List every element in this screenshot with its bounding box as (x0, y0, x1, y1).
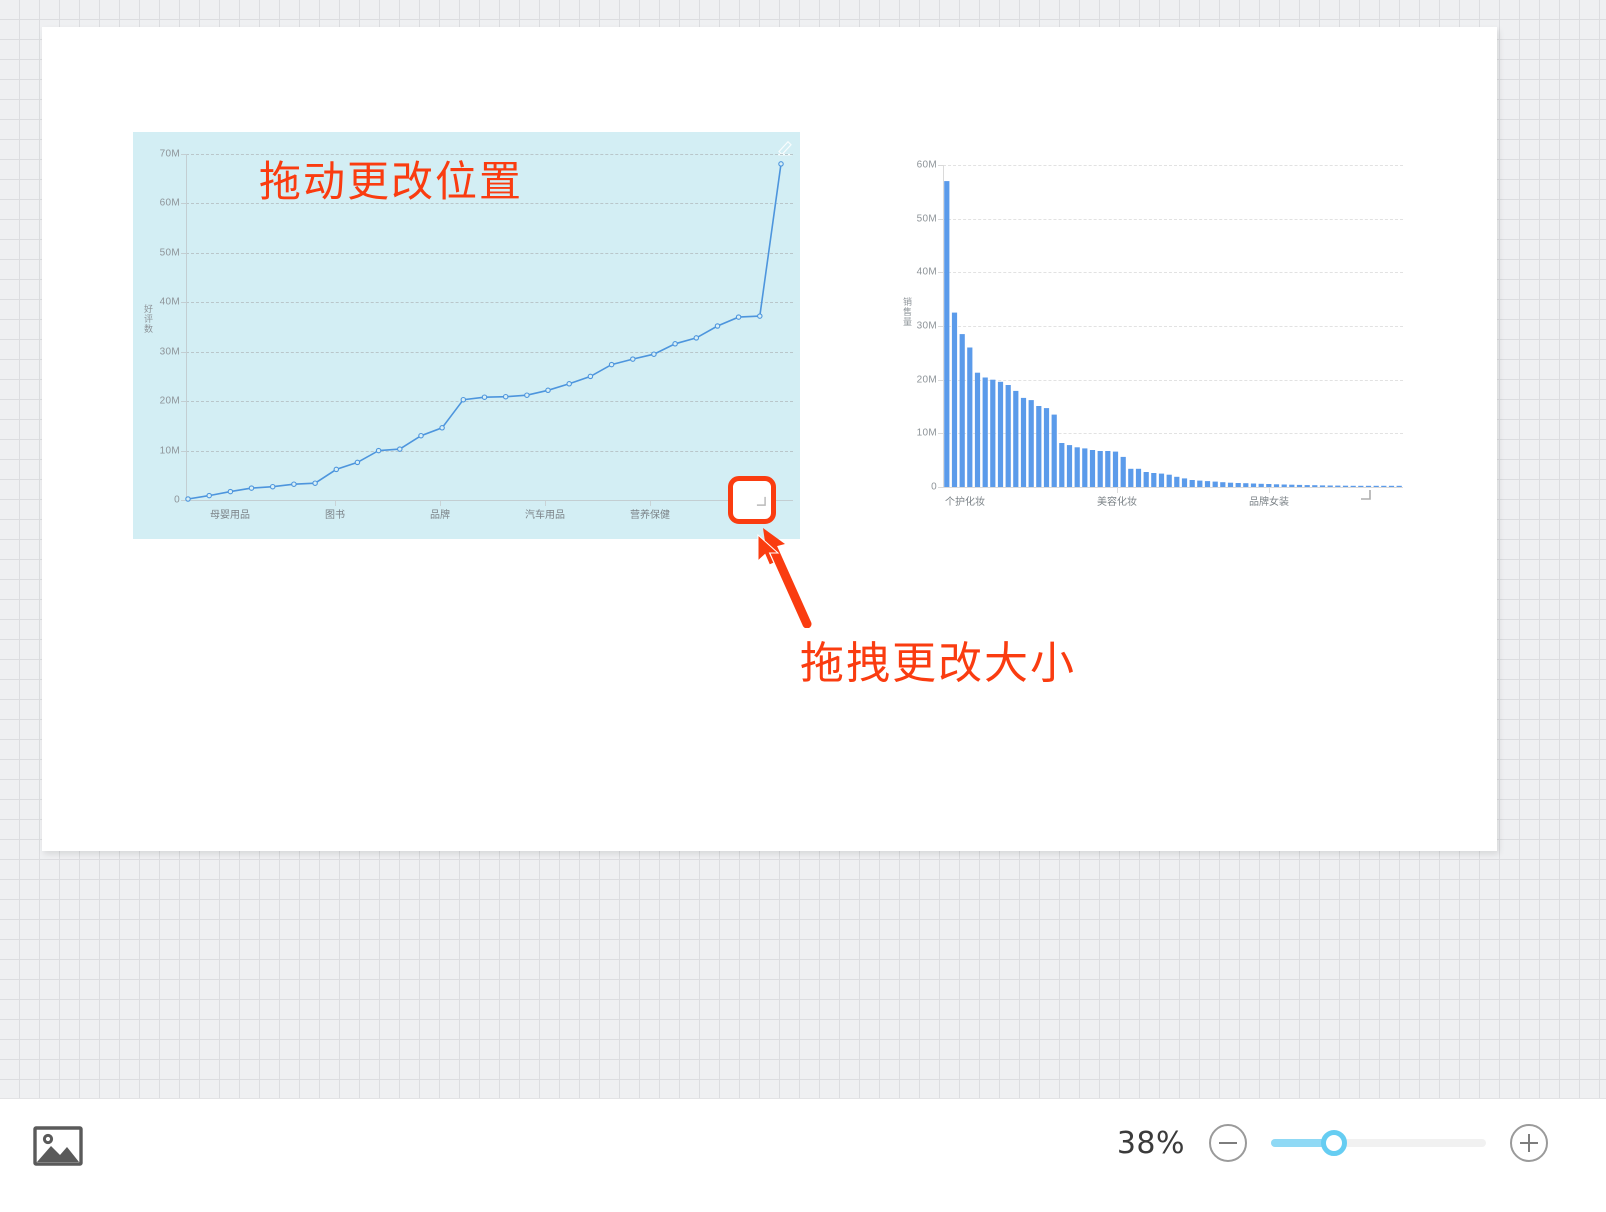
line-series-marker (504, 395, 508, 399)
bar-series-bar (967, 348, 972, 488)
bar-series-bar (1167, 475, 1172, 487)
zoom-in-button[interactable] (1510, 1124, 1548, 1162)
line-x-tickmark (650, 501, 651, 506)
annotation-resize-handle-highlight (728, 476, 776, 524)
bar-chart-widget[interactable]: 销售量 010M20M30M40M50M60M 个护化妆美容化妆品牌女装 (897, 147, 1417, 529)
bar-series-bar (1174, 477, 1179, 487)
bar-series-bar (1013, 391, 1018, 487)
line-x-tick-label: 营养保健 (630, 506, 670, 521)
line-series-marker (673, 342, 677, 346)
zoom-out-button[interactable] (1209, 1124, 1247, 1162)
zoom-slider[interactable] (1271, 1139, 1486, 1147)
image-icon (33, 1125, 83, 1167)
line-series-marker (631, 357, 635, 361)
bar-series-bar (1236, 483, 1241, 487)
bar-series-bar (1305, 485, 1310, 487)
line-series-marker (567, 382, 571, 386)
bar-series-bar (1006, 385, 1011, 487)
bar-series-bar (1381, 486, 1386, 487)
line-x-tick-label: 母婴用品 (210, 506, 250, 521)
bar-series-bar (1328, 486, 1333, 488)
bar-series-bar (1205, 481, 1210, 487)
bar-series-bar (1144, 472, 1149, 487)
line-series-marker (736, 315, 740, 319)
bar-series-bar (1374, 486, 1379, 487)
resize-corner-icon[interactable] (756, 493, 766, 503)
bar-series-bar (1121, 457, 1126, 487)
bar-series-bar (1197, 481, 1202, 487)
bar-series-bar (1220, 482, 1225, 487)
bar-series-bar (1351, 486, 1356, 487)
zoom-percent-label: 38% (1117, 1126, 1185, 1161)
bar-x-tick-label: 品牌女装 (1249, 493, 1289, 508)
bar-series-bar (983, 378, 988, 488)
bar-series-bar (1389, 486, 1394, 487)
line-series-marker (779, 162, 783, 166)
insert-image-button[interactable] (33, 1125, 83, 1167)
line-series-marker (652, 352, 656, 356)
bar-series-bar (1289, 485, 1294, 487)
line-series-marker (376, 448, 380, 452)
line-series-marker (609, 362, 613, 366)
bar-series-bar (1159, 474, 1164, 487)
bar-series-bar (998, 382, 1003, 487)
annotation-move-hint: 拖动更改位置 (259, 148, 523, 209)
bar-chart-series (897, 147, 1417, 529)
mouse-cursor-icon (756, 534, 782, 568)
line-series-marker (715, 324, 719, 328)
line-series-marker (398, 447, 402, 451)
bar-series-bar (960, 334, 965, 487)
bar-x-tick-label: 个护化妆 (945, 493, 985, 508)
bar-series-bar (1251, 484, 1256, 488)
bar-series-bar (1397, 486, 1402, 487)
bar-series-bar (1151, 473, 1156, 487)
line-x-tickmark (545, 501, 546, 506)
annotation-resize-hint: 拖拽更改大小 (800, 627, 1076, 691)
bar-series-bar (1105, 451, 1110, 487)
line-series-marker (461, 398, 465, 402)
bar-series-bar (1090, 450, 1095, 487)
bar-series-bar (1312, 485, 1317, 487)
line-series-marker (271, 485, 275, 489)
bar-series-bar (1059, 443, 1064, 487)
line-series-marker (355, 460, 359, 464)
line-series-marker (588, 374, 592, 378)
bar-series-bar (975, 373, 980, 487)
bar-series-bar (990, 380, 995, 487)
bar-series-bar (1136, 469, 1141, 487)
bar-series-bar (1052, 415, 1057, 487)
bar-series-bar (1228, 483, 1233, 487)
line-series-marker (292, 482, 296, 486)
line-series-marker (207, 493, 211, 497)
line-series-marker (186, 497, 190, 501)
bar-series-bar (1029, 400, 1034, 487)
bar-series-bar (1098, 451, 1103, 487)
bar-x-tick-label: 美容化妆 (1097, 493, 1137, 508)
bar-series-bar (1343, 486, 1348, 487)
bar-chart-resize-handle[interactable] (1360, 487, 1371, 498)
bar-series-bar (1021, 398, 1026, 487)
line-series-marker (482, 395, 486, 399)
bar-series-bar (1036, 406, 1041, 487)
zoom-slider-thumb[interactable] (1321, 1130, 1347, 1156)
line-series-marker (525, 393, 529, 397)
line-series-marker (694, 336, 698, 340)
bar-series-bar (1297, 485, 1302, 487)
line-x-tick-label: 图书 (325, 506, 345, 521)
zoom-controls[interactable]: 38% (1117, 1124, 1548, 1162)
line-series-marker (758, 314, 762, 318)
line-series-marker (313, 481, 317, 485)
bar-series-bar (1075, 447, 1080, 487)
bar-series-bar (1266, 484, 1271, 487)
bar-series-bar (1282, 485, 1287, 488)
bar-series-bar (1213, 482, 1218, 487)
bar-series-bar (1082, 448, 1087, 487)
line-series-marker (546, 388, 550, 392)
line-series-marker (440, 426, 444, 430)
line-x-tick-label: 汽车用品 (525, 506, 565, 521)
bar-series-bar (1182, 478, 1187, 487)
bar-series-bar (1190, 480, 1195, 487)
bar-series-bar (952, 313, 957, 487)
bar-series-bar (1113, 452, 1118, 487)
line-series-marker (419, 434, 423, 438)
bar-series-bar (1044, 408, 1049, 487)
bar-x-tickmark (1269, 488, 1270, 493)
bar-x-tickmark (1117, 488, 1118, 493)
bar-series-bar (1320, 485, 1325, 487)
line-series-path (188, 164, 781, 499)
bar-series-bar (1243, 483, 1248, 487)
bar-series-bar (1128, 469, 1133, 487)
line-series-marker (228, 489, 232, 493)
line-x-tickmark (335, 501, 336, 506)
line-x-tick-label: 品牌 (430, 506, 450, 521)
bar-series-bar (1335, 486, 1340, 487)
line-series-marker (334, 467, 338, 471)
bar-series-bar (1259, 484, 1264, 487)
bar-series-bar (1067, 445, 1072, 487)
bar-series-bar (944, 181, 949, 487)
canvas-area[interactable]: 好评数 010M20M30M40M50M60M70M 母婴用品图书品牌汽车用品营… (0, 0, 1606, 1098)
bar-series-bar (1274, 484, 1279, 487)
line-x-tickmark (440, 501, 441, 506)
line-series-marker (249, 486, 253, 490)
